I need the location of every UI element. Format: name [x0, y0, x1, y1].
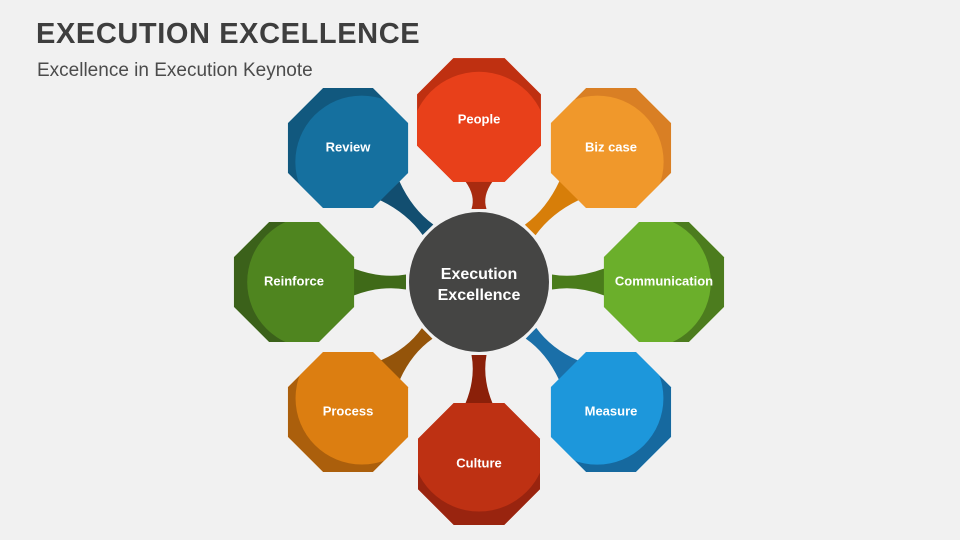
connector-reinforce	[354, 269, 406, 296]
hub-layer: ExecutionExcellence	[409, 212, 549, 352]
hub-and-spoke-diagram: PeopleBiz caseCommunicationMeasureCultur…	[0, 0, 960, 540]
connector-culture	[466, 355, 493, 403]
slide-canvas: EXECUTION EXCELLENCE Excellence in Execu…	[0, 0, 960, 540]
diagram-svg: PeopleBiz caseCommunicationMeasureCultur…	[0, 0, 960, 540]
hub-circle[interactable]	[409, 212, 549, 352]
connector-communication	[552, 269, 604, 296]
connector-people	[466, 182, 493, 209]
